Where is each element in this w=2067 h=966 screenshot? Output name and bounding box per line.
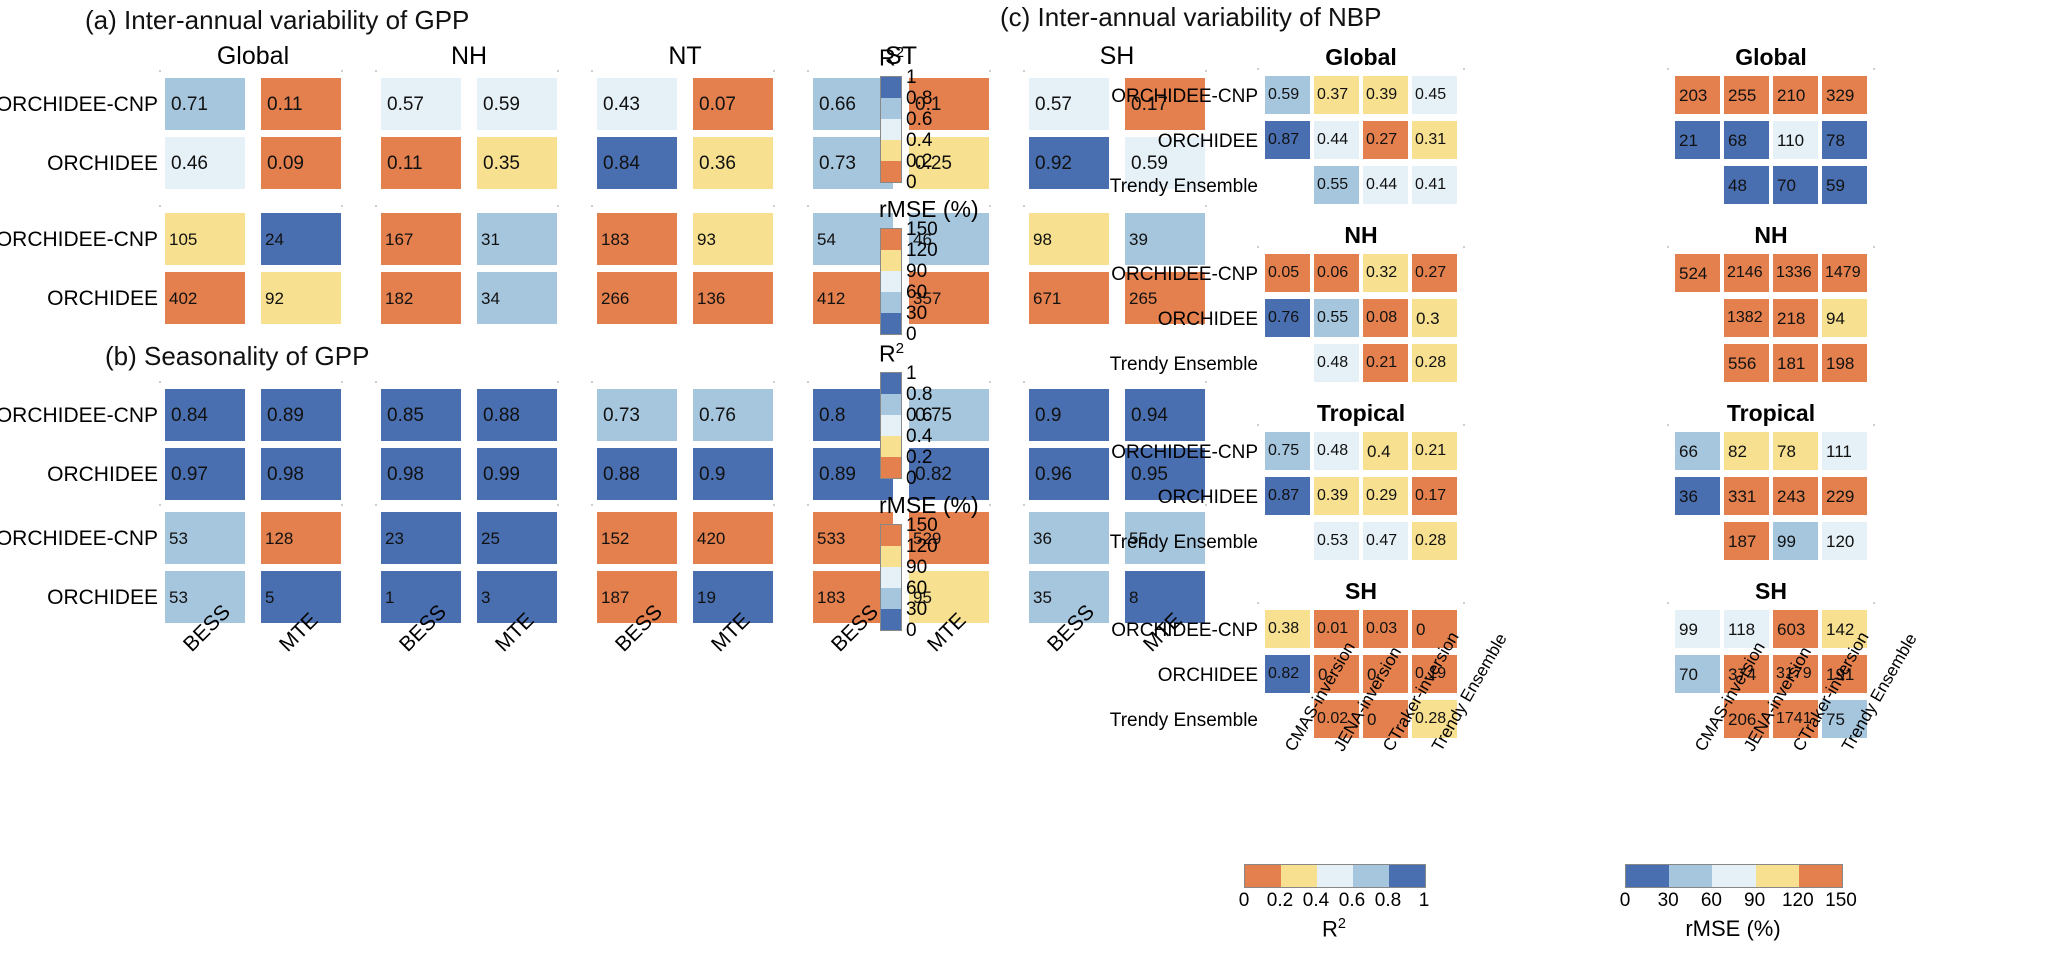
legend-r2-title: R2	[879, 44, 904, 72]
axis-tick	[341, 381, 343, 383]
row-label-orchidee: ORCHIDEE	[958, 309, 1258, 331]
panel-b-title: (b) Seasonality of GPP	[105, 341, 369, 372]
colorbar-segment	[1245, 865, 1281, 887]
heatmap-cell: 0.27	[1412, 254, 1457, 292]
colorbar-tick-label: 1	[906, 68, 917, 87]
heatmap-cell: 92	[261, 272, 341, 324]
colorbar-tick-label: 120	[1782, 890, 1814, 912]
colorbar-tick-label: 0	[1620, 890, 1631, 912]
heatmap-cell: 0.55	[1314, 166, 1359, 204]
colorbar-segment	[1799, 865, 1842, 887]
heatmap-cell: 0.36	[693, 137, 773, 189]
heatmap-cell: 110	[1773, 121, 1818, 159]
heatmap-cell: 0.11	[381, 137, 461, 189]
heatmap-cell: 0.41	[1412, 166, 1457, 204]
colorbar-tick-label: 0.8	[906, 89, 932, 108]
heatmap-cell: 0.44	[1314, 121, 1359, 159]
colorbar-segment	[881, 250, 901, 271]
heatmap-cell: 0.98	[381, 448, 461, 500]
colorbar-tick-label: 0.4	[906, 131, 932, 150]
row-label-orchidee: ORCHIDEE	[958, 487, 1258, 509]
axis-tick	[1667, 246, 1669, 248]
colorbar-tick-label: 30	[906, 304, 927, 323]
axis-tick	[1257, 602, 1259, 604]
colorbar-tick-label: 0.4	[1303, 890, 1329, 912]
figure-canvas: (a) Inter-annual variability of GPP (b) …	[0, 0, 2067, 966]
colorbar-tick-label: 0.2	[906, 448, 932, 467]
axis-tick	[773, 381, 775, 383]
legend-r2b-colorbar	[880, 372, 902, 479]
heatmap-cell: 25	[477, 512, 557, 564]
heatmap-cell: 59	[1822, 166, 1867, 204]
legend-bottom-r2-title: R2	[1322, 916, 1346, 942]
heatmap-cell: 0.46	[165, 137, 245, 189]
heatmap-cell: 23	[381, 512, 461, 564]
legend-rmse-colorbar	[880, 228, 902, 335]
colorbar-segment	[1756, 865, 1799, 887]
axis-tick	[159, 205, 161, 207]
group-header-tropical: Tropical	[1257, 400, 1465, 427]
colorbar-tick-label: 150	[906, 220, 938, 239]
group-header-global: Global	[159, 42, 347, 71]
heatmap-cell: 167	[381, 213, 461, 265]
colorbar-tick-label: 0	[906, 621, 917, 640]
heatmap-cell: 0.21	[1363, 344, 1408, 382]
colorbar-segment	[881, 98, 901, 119]
colorbar-tick-label: 90	[1744, 890, 1765, 912]
axis-tick	[807, 205, 809, 207]
axis-tick	[375, 70, 377, 72]
row-label-trendy-ensemble: Trendy Ensemble	[958, 532, 1258, 554]
row-label-orchidee-cnp: ORCHIDEE-CNP	[958, 620, 1258, 642]
heatmap-cell: 0.01	[1314, 610, 1359, 648]
legend-bottom-r2-colorbar	[1244, 864, 1426, 888]
colorbar-segment	[881, 292, 901, 313]
colorbar-tick-label: 60	[906, 283, 927, 302]
heatmap-cell: 182	[381, 272, 461, 324]
heatmap-cell: 99	[1675, 610, 1720, 648]
axis-tick	[1463, 68, 1465, 70]
heatmap-cell: 0.06	[1314, 254, 1359, 292]
colorbar-segment	[881, 271, 901, 292]
axis-tick	[1463, 246, 1465, 248]
colorbar-segment	[881, 313, 901, 334]
colorbar-tick-label: 120	[906, 241, 938, 260]
axis-tick	[807, 70, 809, 72]
heatmap-cell: 329	[1822, 76, 1867, 114]
axis-tick	[1873, 68, 1875, 70]
heatmap-cell: 0.11	[261, 78, 341, 130]
axis-tick	[159, 504, 161, 506]
axis-tick	[1667, 602, 1669, 604]
heatmap-cell: 24	[261, 213, 341, 265]
colorbar-segment	[881, 567, 901, 588]
colorbar-tick-label: 60	[906, 579, 927, 598]
colorbar-segment	[881, 119, 901, 140]
colorbar-segment	[881, 415, 901, 436]
heatmap-cell: 218	[1773, 299, 1818, 337]
group-header-global: Global	[1257, 44, 1465, 71]
row-label-orchidee: ORCHIDEE	[0, 152, 158, 176]
heatmap-cell: 36	[1675, 477, 1720, 515]
row-label-orchidee-cnp: ORCHIDEE-CNP	[958, 442, 1258, 464]
colorbar-segment	[1712, 865, 1755, 887]
colorbar-tick-label: 150	[906, 516, 938, 535]
group-header-global: Global	[1667, 44, 1875, 71]
heatmap-cell: 0.59	[477, 78, 557, 130]
colorbar-segment	[881, 229, 901, 250]
heatmap-cell: 181	[1773, 344, 1818, 382]
heatmap-cell: 82	[1724, 432, 1769, 470]
axis-tick	[1205, 70, 1207, 72]
row-label-orchidee-cnp: ORCHIDEE-CNP	[0, 404, 158, 428]
heatmap-cell: 98	[1029, 213, 1109, 265]
axis-tick	[807, 381, 809, 383]
heatmap-cell: 0.73	[597, 389, 677, 441]
heatmap-cell: 94	[1822, 299, 1867, 337]
colorbar-segment	[1626, 865, 1669, 887]
heatmap-cell: 0.76	[1265, 299, 1310, 337]
row-label-orchidee-cnp: ORCHIDEE-CNP	[0, 228, 158, 252]
heatmap-cell: 39	[1125, 213, 1205, 265]
colorbar-tick-label: 150	[1825, 890, 1857, 912]
heatmap-cell: 0.47	[1363, 522, 1408, 560]
axis-tick	[1257, 68, 1259, 70]
heatmap-cell: 21	[1675, 121, 1720, 159]
axis-tick	[1023, 381, 1025, 383]
group-header-sh: SH	[1257, 578, 1465, 605]
group-header-sh: SH	[1667, 578, 1875, 605]
colorbar-tick-label: 0	[906, 173, 917, 192]
colorbar-segment	[881, 140, 901, 161]
colorbar-tick-label: 0.6	[906, 406, 932, 425]
heatmap-cell: 99	[1773, 522, 1818, 560]
axis-tick	[773, 205, 775, 207]
row-label-orchidee: ORCHIDEE	[958, 665, 1258, 687]
axis-tick	[591, 205, 593, 207]
axis-tick	[773, 70, 775, 72]
colorbar-tick-label: 1	[906, 364, 917, 383]
heatmap-cell: 0.88	[597, 448, 677, 500]
heatmap-cell: 0.05	[1265, 254, 1310, 292]
colorbar-tick-label: 0.2	[1267, 890, 1293, 912]
heatmap-cell-empty	[1265, 166, 1310, 204]
colorbar-tick-label: 0.6	[906, 110, 932, 129]
axis-tick	[375, 504, 377, 506]
axis-tick	[557, 381, 559, 383]
heatmap-cell: 0.82	[1265, 655, 1310, 693]
axis-tick	[1873, 602, 1875, 604]
axis-tick	[1463, 602, 1465, 604]
heatmap-cell: 0.37	[1314, 76, 1359, 114]
heatmap-cell: 0.39	[1314, 477, 1359, 515]
heatmap-cell: 105	[165, 213, 245, 265]
axis-tick	[341, 504, 343, 506]
heatmap-cell: 187	[1724, 522, 1769, 560]
row-label-orchidee: ORCHIDEE	[0, 287, 158, 311]
axis-tick	[591, 381, 593, 383]
heatmap-cell: 0.07	[693, 78, 773, 130]
heatmap-cell: 0.71	[165, 78, 245, 130]
heatmap-cell: 0.32	[1363, 254, 1408, 292]
axis-tick	[1023, 205, 1025, 207]
group-header-nh: NH	[375, 42, 563, 71]
heatmap-cell: 0.09	[261, 137, 341, 189]
heatmap-cell: 198	[1822, 344, 1867, 382]
heatmap-cell: 0.55	[1314, 299, 1359, 337]
axis-tick	[1463, 424, 1465, 426]
heatmap-cell: 0.98	[261, 448, 341, 500]
group-header-sh: SH	[1023, 42, 1211, 71]
colorbar-segment	[881, 457, 901, 478]
colorbar-tick-label: 1	[1419, 890, 1430, 912]
heatmap-cell: 53	[165, 512, 245, 564]
group-header-tropical: Tropical	[1667, 400, 1875, 427]
legend-r2b-title: R2	[879, 340, 904, 368]
heatmap-cell: 2146	[1724, 254, 1769, 292]
heatmap-cell: 402	[165, 272, 245, 324]
colorbar-segment	[881, 546, 901, 567]
axis-tick	[1257, 424, 1259, 426]
heatmap-cell: 1382	[1724, 299, 1769, 337]
colorbar-segment	[881, 161, 901, 182]
row-label-orchidee-cnp: ORCHIDEE-CNP	[0, 93, 158, 117]
heatmap-cell: 0.9	[1029, 389, 1109, 441]
heatmap-cell: 603	[1773, 610, 1818, 648]
colorbar-segment	[1317, 865, 1353, 887]
colorbar-segment	[1353, 865, 1389, 887]
axis-tick	[159, 381, 161, 383]
colorbar-segment	[881, 588, 901, 609]
heatmap-cell: 0.84	[165, 389, 245, 441]
axis-tick	[1873, 424, 1875, 426]
heatmap-cell: 70	[1773, 166, 1818, 204]
heatmap-cell: 120	[1822, 522, 1867, 560]
colorbar-tick-label: 0.4	[906, 427, 932, 446]
heatmap-cell: 0.87	[1265, 477, 1310, 515]
heatmap-cell: 0.28	[1412, 344, 1457, 382]
row-label-orchidee: ORCHIDEE	[958, 131, 1258, 153]
colorbar-tick-label: 0	[906, 469, 917, 488]
colorbar-tick-label: 90	[906, 558, 927, 577]
heatmap-cell-empty	[1675, 522, 1720, 560]
heatmap-cell: 524	[1675, 254, 1720, 292]
heatmap-cell: 93	[693, 213, 773, 265]
heatmap-cell: 0.89	[261, 389, 341, 441]
axis-tick	[591, 70, 593, 72]
axis-tick	[1205, 381, 1207, 383]
axis-tick	[807, 504, 809, 506]
colorbar-segment	[881, 525, 901, 546]
colorbar-tick-label: 0	[1239, 890, 1250, 912]
heatmap-cell: 0.38	[1265, 610, 1310, 648]
group-header-nh: NH	[1257, 222, 1465, 249]
axis-tick	[1667, 424, 1669, 426]
heatmap-cell: 0.85	[381, 389, 461, 441]
axis-tick	[989, 381, 991, 383]
heatmap-cell: 0.3	[1412, 299, 1457, 337]
heatmap-cell: 128	[261, 512, 341, 564]
colorbar-segment	[881, 394, 901, 415]
row-label-orchidee: ORCHIDEE	[0, 586, 158, 610]
colorbar-tick-label: 120	[906, 537, 938, 556]
colorbar-segment	[1389, 865, 1425, 887]
colorbar-tick-label: 60	[1701, 890, 1722, 912]
heatmap-cell: 31	[477, 213, 557, 265]
colorbar-tick-label: 0	[906, 325, 917, 344]
heatmap-cell: 203	[1675, 76, 1720, 114]
heatmap-cell: 0.17	[1412, 477, 1457, 515]
colorbar-tick-label: 30	[906, 600, 927, 619]
heatmap-cell: 0.48	[1314, 432, 1359, 470]
heatmap-cell: 0.84	[597, 137, 677, 189]
colorbar-tick-label: 30	[1658, 890, 1679, 912]
legend-r2-colorbar	[880, 76, 902, 183]
row-label-orchidee: ORCHIDEE	[0, 463, 158, 487]
axis-tick	[1205, 205, 1207, 207]
axis-tick	[557, 205, 559, 207]
axis-tick	[1873, 246, 1875, 248]
colorbar-tick-label: 0.8	[906, 385, 932, 404]
row-label-orchidee-cnp: ORCHIDEE-CNP	[0, 527, 158, 551]
legend-bottom-rmse-title: rMSE (%)	[1685, 916, 1780, 942]
heatmap-cell: 0.99	[477, 448, 557, 500]
heatmap-cell: 0.97	[165, 448, 245, 500]
heatmap-cell: 0.29	[1363, 477, 1408, 515]
panel-a-title: (a) Inter-annual variability of GPP	[85, 5, 469, 36]
heatmap-cell-empty	[1675, 166, 1720, 204]
heatmap-cell: 0.88	[477, 389, 557, 441]
colorbar-segment	[881, 77, 901, 98]
heatmap-cell: 118	[1724, 610, 1769, 648]
colorbar-tick-label: 90	[906, 262, 927, 281]
colorbar-tick-label: 0.2	[906, 152, 932, 171]
heatmap-cell: 111	[1822, 432, 1867, 470]
heatmap-cell: 0.44	[1363, 166, 1408, 204]
heatmap-cell: 255	[1724, 76, 1769, 114]
colorbar-segment	[1669, 865, 1712, 887]
heatmap-cell-empty	[1265, 344, 1310, 382]
heatmap-cell: 48	[1724, 166, 1769, 204]
heatmap-cell: 0.53	[1314, 522, 1359, 560]
row-label-trendy-ensemble: Trendy Ensemble	[958, 354, 1258, 376]
legend-bottom-rmse-colorbar	[1625, 864, 1843, 888]
heatmap-cell: 0.03	[1363, 610, 1408, 648]
heatmap-cell-empty	[1265, 522, 1310, 560]
heatmap-cell: 420	[693, 512, 773, 564]
axis-tick	[375, 205, 377, 207]
heatmap-cell: 183	[597, 213, 677, 265]
heatmap-cell: 210	[1773, 76, 1818, 114]
heatmap-cell: 0.39	[1363, 76, 1408, 114]
axis-tick	[1667, 68, 1669, 70]
heatmap-cell: 229	[1822, 477, 1867, 515]
axis-tick	[159, 70, 161, 72]
row-label-trendy-ensemble: Trendy Ensemble	[958, 176, 1258, 198]
axis-tick	[1023, 70, 1025, 72]
colorbar-segment	[881, 436, 901, 457]
heatmap-cell: 152	[597, 512, 677, 564]
heatmap-cell: 0.59	[1265, 76, 1310, 114]
heatmap-cell: 0.31	[1412, 121, 1457, 159]
heatmap-cell: 0.45	[1412, 76, 1457, 114]
panel-c-title: (c) Inter-annual variability of NBP	[1000, 2, 1381, 33]
axis-tick	[341, 70, 343, 72]
axis-tick	[557, 504, 559, 506]
axis-tick	[591, 504, 593, 506]
heatmap-cell: 1336	[1773, 254, 1818, 292]
axis-tick	[989, 205, 991, 207]
heatmap-cell: 331	[1724, 477, 1769, 515]
colorbar-segment	[881, 373, 901, 394]
heatmap-cell-empty	[1675, 344, 1720, 382]
heatmap-cell: 1479	[1822, 254, 1867, 292]
heatmap-cell: 78	[1822, 121, 1867, 159]
heatmap-cell: 0.9	[693, 448, 773, 500]
row-label-orchidee-cnp: ORCHIDEE-CNP	[958, 86, 1258, 108]
axis-tick	[989, 70, 991, 72]
heatmap-cell: 0.35	[477, 137, 557, 189]
heatmap-cell: 34	[477, 272, 557, 324]
group-header-nh: NH	[1667, 222, 1875, 249]
group-header-nt: NT	[591, 42, 779, 71]
heatmap-cell: 0.75	[1265, 432, 1310, 470]
heatmap-cell: 0.76	[693, 389, 773, 441]
heatmap-cell: 0.21	[1412, 432, 1457, 470]
heatmap-cell: 266	[597, 272, 677, 324]
axis-tick	[773, 504, 775, 506]
row-label-trendy-ensemble: Trendy Ensemble	[958, 710, 1258, 732]
heatmap-cell: 0.48	[1314, 344, 1359, 382]
heatmap-cell: 70	[1675, 655, 1720, 693]
heatmap-cell: 136	[693, 272, 773, 324]
heatmap-cell: 68	[1724, 121, 1769, 159]
row-label-orchidee-cnp: ORCHIDEE-CNP	[958, 264, 1258, 286]
colorbar-tick-label: 0.8	[1375, 890, 1401, 912]
colorbar-segment	[1281, 865, 1317, 887]
axis-tick	[557, 70, 559, 72]
heatmap-cell: 0.28	[1412, 522, 1457, 560]
colorbar-tick-label: 0.6	[1339, 890, 1365, 912]
axis-tick	[341, 205, 343, 207]
heatmap-cell: 0.94	[1125, 389, 1205, 441]
legend-rmseb-colorbar	[880, 524, 902, 631]
heatmap-cell: 0.43	[597, 78, 677, 130]
heatmap-cell: 0.87	[1265, 121, 1310, 159]
heatmap-cell: 0.4	[1363, 432, 1408, 470]
axis-tick	[1257, 246, 1259, 248]
heatmap-cell: 66	[1675, 432, 1720, 470]
heatmap-cell: 556	[1724, 344, 1769, 382]
axis-tick	[375, 381, 377, 383]
heatmap-cell-empty	[1675, 299, 1720, 337]
heatmap-cell: 78	[1773, 432, 1818, 470]
heatmap-cell: 0.57	[381, 78, 461, 130]
heatmap-cell: 0.27	[1363, 121, 1408, 159]
colorbar-segment	[881, 609, 901, 630]
heatmap-cell: 0.08	[1363, 299, 1408, 337]
heatmap-cell: 243	[1773, 477, 1818, 515]
